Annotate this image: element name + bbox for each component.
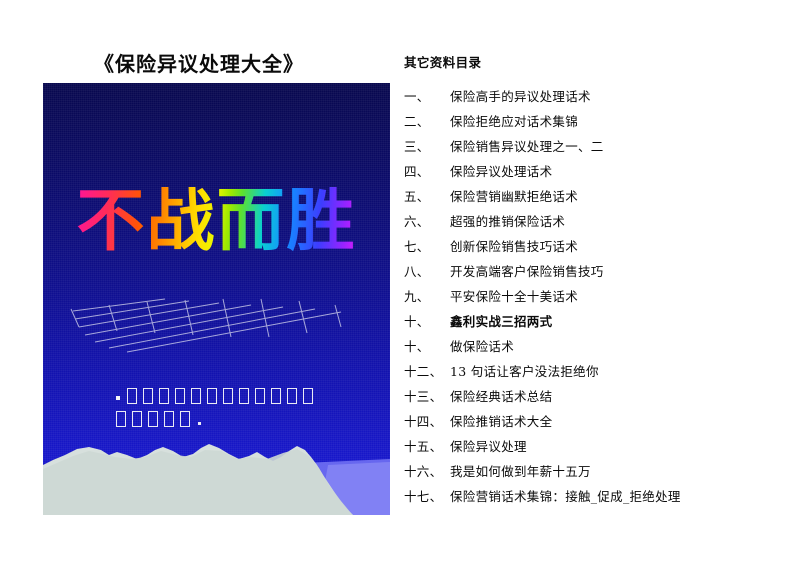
toc-item-label: 保险经典话术总结: [450, 386, 552, 405]
toc-item-number: 十五、: [404, 436, 450, 455]
toc-item[interactable]: 七、创新保险销售技巧话术: [404, 236, 796, 261]
toc-item-label: 保险营销幽默拒绝话术: [450, 186, 578, 205]
slide-mountain-graphic: [43, 435, 390, 515]
slide-bullet-line-2: [116, 409, 366, 432]
toc-item-label: 超强的推销保险话术: [450, 211, 565, 230]
toc-item-number: 三、: [404, 136, 450, 155]
toc-item[interactable]: 十三、保险经典话术总结: [404, 386, 796, 411]
page-title: 《保险异议处理大全》: [0, 48, 398, 77]
page-canvas: 《保险异议处理大全》 不战而胜: [0, 0, 800, 566]
toc-item-label: 平安保险十全十美话术: [450, 286, 578, 305]
toc-item[interactable]: 十六、我是如何做到年薪十五万: [404, 461, 796, 486]
toc-item-number: 二、: [404, 111, 450, 130]
toc-item[interactable]: 十七、保险营销话术集锦：接触_促成_拒绝处理: [404, 486, 796, 511]
toc-item[interactable]: 四、保险异议处理话术: [404, 161, 796, 186]
slide-wordart-text: 不战而胜: [76, 187, 356, 256]
toc-item-label: 保险推销话术大全: [450, 411, 552, 430]
toc-item-number: 十六、: [404, 461, 450, 480]
bullet-marker-icon: [116, 396, 120, 400]
toc-item[interactable]: 十二、13 句话让客户没法拒绝你: [404, 361, 796, 386]
toc-item-number: 十二、: [404, 361, 450, 380]
toc-heading: 其它资料目录: [404, 52, 796, 71]
toc-item[interactable]: 八、开发高端客户保险销售技巧: [404, 261, 796, 286]
toc-item[interactable]: 十、鑫利实战三招两式: [404, 311, 796, 336]
toc-item[interactable]: 十五、保险异议处理: [404, 436, 796, 461]
toc-item-label: 鑫利实战三招两式: [450, 311, 552, 330]
toc-item-number: 十、: [404, 336, 450, 355]
toc-item-number: 八、: [404, 261, 450, 280]
toc-item-number: 一、: [404, 86, 450, 105]
toc-item-number: 六、: [404, 211, 450, 230]
toc-item-label: 13 句话让客户没法拒绝你: [450, 361, 599, 380]
toc-item[interactable]: 九、平安保险十全十美话术: [404, 286, 796, 311]
slide-wordart-container: 不战而胜: [43, 187, 390, 322]
toc-item[interactable]: 一、保险高手的异议处理话术: [404, 86, 796, 111]
toc-item-label: 保险异议处理: [450, 436, 527, 455]
toc-item[interactable]: 十四、保险推销话术大全: [404, 411, 796, 436]
toc-item-label: 做保险话术: [450, 336, 514, 355]
toc-item-number: 十四、: [404, 411, 450, 430]
slide-bullet-text: [116, 386, 366, 432]
toc-list: 一、保险高手的异议处理话术二、保险拒绝应对话术集锦三、保险销售异议处理之一、二四…: [404, 86, 796, 511]
slide-preview-image: 不战而胜: [43, 83, 390, 515]
toc-item-label: 保险拒绝应对话术集锦: [450, 111, 578, 130]
toc-item-number: 四、: [404, 161, 450, 180]
toc-item-label: 我是如何做到年薪十五万: [450, 461, 591, 480]
toc-item-label: 保险销售异议处理之一、二: [450, 136, 604, 155]
toc-item[interactable]: 二、保险拒绝应对话术集锦: [404, 111, 796, 136]
toc-item[interactable]: 三、保险销售异议处理之一、二: [404, 136, 796, 161]
toc-item-number: 七、: [404, 236, 450, 255]
left-column: 《保险异议处理大全》 不战而胜: [0, 0, 398, 566]
toc-item[interactable]: 十、做保险话术: [404, 336, 796, 361]
toc-item-number: 九、: [404, 286, 450, 305]
right-column: 其它资料目录 一、保险高手的异议处理话术二、保险拒绝应对话术集锦三、保险销售异议…: [404, 52, 796, 511]
toc-item[interactable]: 六、超强的推销保险话术: [404, 211, 796, 236]
toc-item-label: 保险营销话术集锦：接触_促成_拒绝处理: [450, 486, 681, 505]
toc-item-label: 保险异议处理话术: [450, 161, 552, 180]
slide-bullet-line-1: [116, 386, 366, 409]
toc-item-number: 十、: [404, 311, 450, 330]
toc-item-label: 创新保险销售技巧话术: [450, 236, 578, 255]
toc-item-label: 保险高手的异议处理话术: [450, 86, 591, 105]
toc-item-number: 十七、: [404, 486, 450, 505]
toc-item[interactable]: 五、保险营销幽默拒绝话术: [404, 186, 796, 211]
toc-item-number: 十三、: [404, 386, 450, 405]
toc-item-number: 五、: [404, 186, 450, 205]
toc-item-label: 开发高端客户保险销售技巧: [450, 261, 604, 280]
